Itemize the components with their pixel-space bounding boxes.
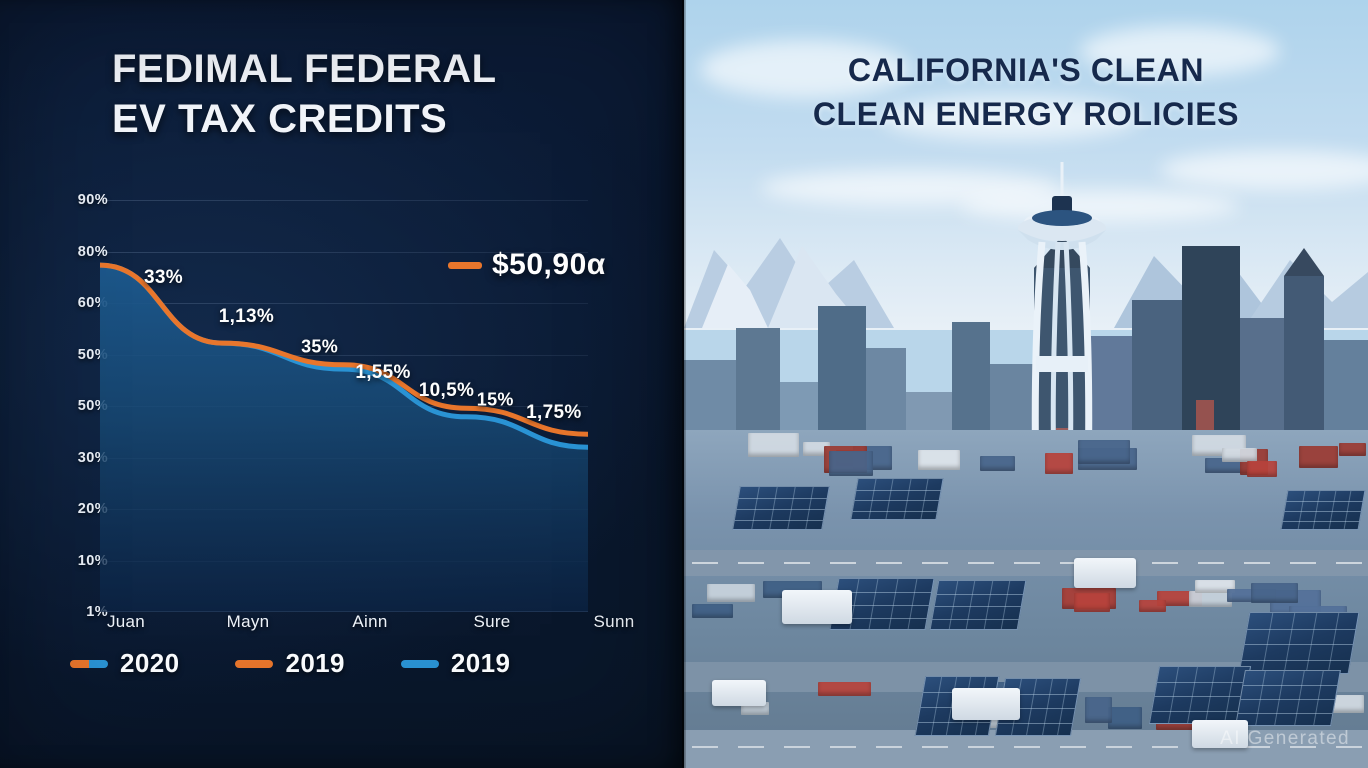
shipping-container bbox=[707, 584, 755, 602]
road-marking bbox=[968, 562, 994, 564]
road-marking bbox=[830, 562, 856, 564]
photo-title-line2: CLEAN ENERGY ROLICIES bbox=[684, 92, 1368, 136]
road-marking bbox=[1198, 562, 1224, 564]
road-marking bbox=[1244, 562, 1270, 564]
data-point-label: 15% bbox=[477, 389, 514, 410]
chart-y-axis-labels: 90%80%60%50%50%30%20%10%1% bbox=[46, 200, 108, 612]
road-marking bbox=[1152, 746, 1178, 748]
shipping-container bbox=[692, 604, 733, 618]
road-marking bbox=[1106, 746, 1132, 748]
road-marking bbox=[784, 562, 810, 564]
shipping-container bbox=[1247, 461, 1277, 477]
infographic-canvas: FEDIMAL FEDERAL EV TAX CREDITS 90%80%60%… bbox=[0, 0, 1368, 768]
shipping-container bbox=[1074, 593, 1110, 612]
road-marking bbox=[692, 562, 718, 564]
shipping-container bbox=[980, 456, 1015, 471]
road-marking bbox=[922, 746, 948, 748]
shipping-container bbox=[1189, 591, 1232, 607]
legend-label: 2019 bbox=[285, 648, 344, 679]
road-marking bbox=[1014, 746, 1040, 748]
solar-panel-array bbox=[1149, 666, 1251, 724]
shipping-container bbox=[1339, 443, 1366, 456]
legend-label: 2020 bbox=[120, 648, 179, 679]
shipping-container bbox=[818, 682, 871, 696]
legend-swatch-icon bbox=[401, 660, 439, 668]
road-marking bbox=[1152, 562, 1178, 564]
photo-panel-title: CALIFORNIA'S CLEAN CLEAN ENERGY ROLICIES bbox=[684, 48, 1368, 136]
x-axis-tick-label: Sure bbox=[473, 612, 510, 632]
road-marking bbox=[1336, 562, 1362, 564]
ai-generated-watermark: AI Generated bbox=[1220, 728, 1350, 750]
shipping-container bbox=[1108, 707, 1142, 729]
x-axis-tick-label: Sunn bbox=[594, 612, 635, 632]
solar-panel-array bbox=[732, 486, 830, 530]
road-marking bbox=[738, 562, 764, 564]
shipping-container bbox=[1251, 583, 1298, 603]
shipping-container bbox=[1078, 440, 1130, 464]
shipping-container bbox=[1139, 600, 1166, 612]
solar-panel-array bbox=[1239, 612, 1360, 674]
shipping-container bbox=[918, 450, 960, 470]
x-axis-tick-label: Mayn bbox=[227, 612, 270, 632]
x-axis-tick-label: Ainn bbox=[352, 612, 387, 632]
chart-legend: 202020192019 bbox=[70, 648, 510, 679]
data-point-label: 10,5% bbox=[419, 380, 474, 402]
shipping-container bbox=[1045, 453, 1073, 474]
road-marking bbox=[922, 562, 948, 564]
shipping-container bbox=[1085, 697, 1112, 723]
truck-trailer bbox=[712, 680, 766, 706]
road-marking bbox=[1290, 562, 1316, 564]
road-marking bbox=[876, 562, 902, 564]
shipping-container bbox=[748, 433, 799, 457]
callout-label: $50,90α bbox=[492, 248, 606, 282]
data-point-label: 1,55% bbox=[355, 362, 410, 384]
road-marking bbox=[1014, 562, 1040, 564]
legend-item[interactable]: 2020 bbox=[70, 648, 179, 679]
road-marking bbox=[830, 746, 856, 748]
road-marking bbox=[876, 746, 902, 748]
road-marking bbox=[738, 746, 764, 748]
solar-panel-array bbox=[850, 478, 943, 520]
shipping-container bbox=[829, 451, 873, 476]
shipping-container bbox=[1299, 446, 1338, 468]
data-point-label: 35% bbox=[301, 337, 338, 358]
truck-trailer bbox=[1074, 558, 1136, 588]
legend-swatch-icon bbox=[235, 660, 273, 668]
solar-panel-array bbox=[930, 580, 1027, 630]
panel-divider bbox=[682, 0, 686, 768]
road-marking bbox=[1060, 746, 1086, 748]
data-point-label: 1,13% bbox=[219, 306, 274, 328]
legend-item[interactable]: 2019 bbox=[401, 648, 510, 679]
x-axis-tick-label: Juan bbox=[107, 612, 145, 632]
road-marking bbox=[968, 746, 994, 748]
data-point-label: 1,75% bbox=[526, 402, 581, 424]
solar-panel-array bbox=[1280, 490, 1365, 530]
chart-x-axis-labels: JuanMaynAinnSureSunn bbox=[100, 612, 588, 646]
legend-label: 2019 bbox=[451, 648, 510, 679]
legend-item[interactable]: 2019 bbox=[235, 648, 344, 679]
shipping-yard bbox=[684, 430, 1368, 768]
road-marking bbox=[692, 746, 718, 748]
photo-title-line1: CALIFORNIA'S CLEAN bbox=[848, 52, 1204, 88]
truck-trailer bbox=[952, 688, 1020, 720]
chart-callout: $50,90α bbox=[448, 248, 606, 282]
road-marking bbox=[784, 746, 810, 748]
chart-panel: FEDIMAL FEDERAL EV TAX CREDITS 90%80%60%… bbox=[0, 0, 684, 768]
shipping-container bbox=[1222, 448, 1257, 462]
data-point-label: 33% bbox=[144, 267, 183, 289]
legend-swatch-icon bbox=[70, 660, 108, 668]
solar-panel-array bbox=[1235, 670, 1341, 726]
callout-swatch-icon bbox=[448, 262, 482, 269]
truck-trailer bbox=[782, 590, 852, 624]
